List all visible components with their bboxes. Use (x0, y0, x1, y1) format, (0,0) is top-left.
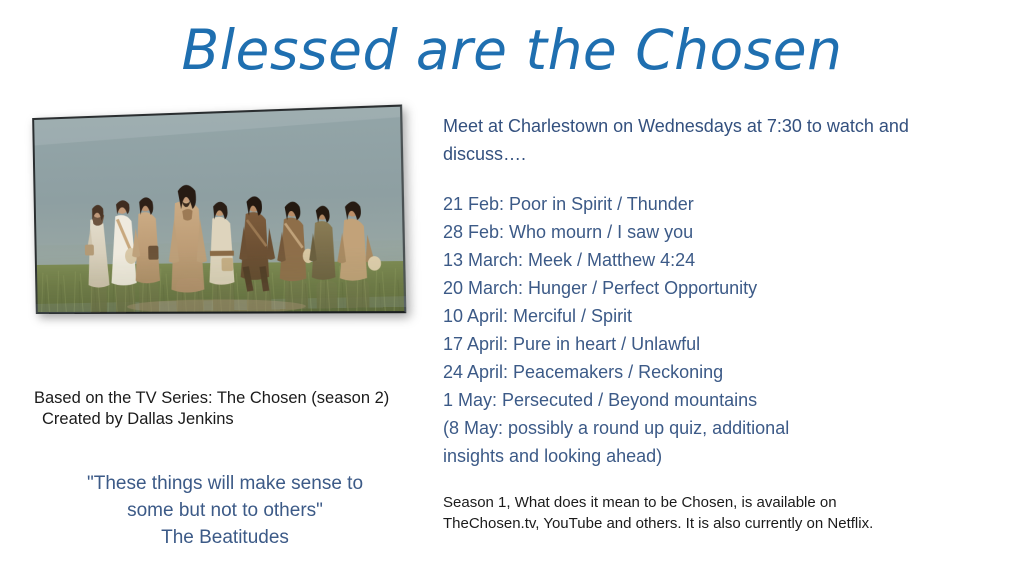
list-item: 10 April: Merciful / Spirit (443, 302, 923, 330)
list-item: 21 Feb: Poor in Spirit / Thunder (443, 190, 923, 218)
list-item: 1 May: Persecuted / Beyond mountains (443, 386, 923, 414)
cast-photo-reflection-illustration (35, 245, 406, 314)
page-title: Blessed are the Chosen (0, 18, 1024, 82)
photo-caption-line-1: Based on the TV Series: The Chosen (seas… (34, 388, 434, 409)
photo-block (34, 118, 394, 373)
list-item: 24 April: Peacemakers / Reckoning (443, 358, 923, 386)
schedule-list: 21 Feb: Poor in Spirit / Thunder 28 Feb:… (443, 190, 923, 470)
right-column: Meet at Charlestown on Wednesdays at 7:3… (443, 112, 923, 534)
quote-line-2: some but not to others" (20, 497, 430, 524)
availability-note: Season 1, What does it mean to be Chosen… (443, 492, 911, 534)
meeting-info: Meet at Charlestown on Wednesdays at 7:3… (443, 112, 915, 168)
list-item: 17 April: Pure in heart / Unlawful (443, 330, 923, 358)
list-item: 13 March: Meek / Matthew 4:24 (443, 246, 923, 274)
photo-reflection (35, 245, 406, 314)
beatitudes-quote: "These things will make sense to some bu… (20, 470, 430, 551)
photo-caption-line-2: Created by Dallas Jenkins (34, 409, 434, 430)
list-item: 20 March: Hunger / Perfect Opportunity (443, 274, 923, 302)
quote-attribution: The Beatitudes (20, 524, 430, 551)
list-item: insights and looking ahead) (443, 442, 923, 470)
photo-caption: Based on the TV Series: The Chosen (seas… (34, 388, 434, 430)
list-item: (8 May: possibly a round up quiz, additi… (443, 414, 923, 442)
quote-line-1: "These things will make sense to (20, 470, 430, 497)
list-item: 28 Feb: Who mourn / I saw you (443, 218, 923, 246)
